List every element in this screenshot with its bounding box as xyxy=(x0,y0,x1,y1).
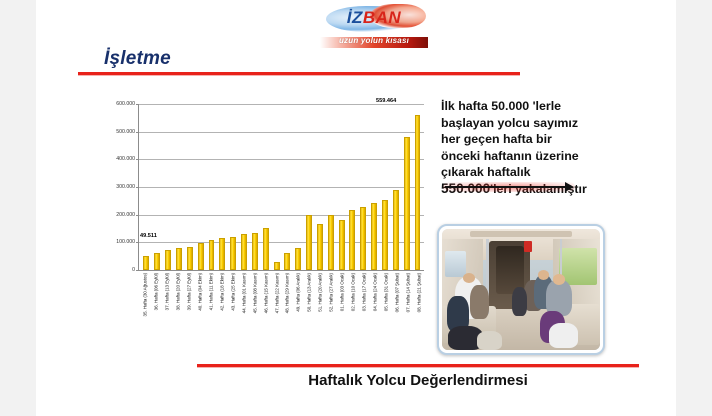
photo-ceiling-strip xyxy=(470,231,571,237)
chart-bar[interactable] xyxy=(349,210,355,270)
x-axis-tick-label: 46. Hafta (15 Kasım) xyxy=(263,273,268,313)
chart-bar[interactable] xyxy=(415,115,421,270)
x-axis-tick-label: 37. Hafta (13 Eylül) xyxy=(165,273,170,310)
photo-passenger xyxy=(477,331,502,350)
slide-canvas: İZBAN uzun yolun kısası İşletme 0100.000… xyxy=(0,0,712,416)
bar-slot xyxy=(228,104,239,270)
chart-bar[interactable] xyxy=(317,224,323,270)
y-axis-tick-mark xyxy=(136,242,139,243)
x-label-slot: 50. Hafta (13 Aralık) xyxy=(304,273,315,343)
x-axis-tick-label: 41. Hafta (11 Ekim) xyxy=(208,273,213,310)
x-label-slot: 40. Hafta (04 Ekim) xyxy=(195,273,206,343)
x-label-slot: 06. Hafta (07 Şubat) xyxy=(391,273,402,343)
x-axis-tick-label: 03. Hafta (17 Ocak) xyxy=(361,273,366,311)
bar-slot xyxy=(380,104,391,270)
chart-bar[interactable] xyxy=(404,137,410,270)
bar-slot xyxy=(315,104,326,270)
x-axis-tick-label: 38. Hafta (20 Eylül) xyxy=(176,273,181,310)
x-label-slot: 47. Hafta (22 Kasım) xyxy=(271,273,282,343)
bar-slot xyxy=(249,104,260,270)
y-axis-tick-mark xyxy=(136,159,139,160)
chart-bar[interactable] xyxy=(382,200,388,270)
chart-bar[interactable] xyxy=(241,234,247,270)
x-label-slot: 08. Hafta (21 Şubat) xyxy=(413,273,424,343)
chart-bar[interactable] xyxy=(295,248,301,270)
photo-window-left xyxy=(445,251,466,278)
logo-mark: İZBAN xyxy=(318,4,430,34)
x-axis-tick-label: 45. Hafta (08 Kasım) xyxy=(252,273,257,313)
train-interior-photo xyxy=(442,229,600,350)
chart-bar[interactable] xyxy=(263,228,269,270)
x-axis-tick-label: 52. Hafta (27 Aralık) xyxy=(329,273,334,312)
photo-passenger-head xyxy=(553,274,566,285)
chart-bar[interactable] xyxy=(306,215,312,270)
y-axis-tick-mark xyxy=(136,270,139,271)
bar-slot xyxy=(174,104,185,270)
x-label-slot: 41. Hafta (11 Ekim) xyxy=(206,273,217,343)
x-axis-tick-label: 02. Hafta (10 Ocak) xyxy=(350,273,355,311)
x-label-slot: 45. Hafta (08 Kasım) xyxy=(249,273,260,343)
bar-slot xyxy=(304,104,315,270)
x-label-slot: 46. Hafta (15 Kasım) xyxy=(260,273,271,343)
logo-wordmark: İZBAN xyxy=(318,8,430,28)
x-axis-tick-label: 07. Hafta (14 Şubat) xyxy=(405,273,410,312)
logo-tagline: uzun yolun kısası xyxy=(318,36,430,45)
x-label-slot: 37. Hafta (13 Eylül) xyxy=(162,273,173,343)
logo-tagline-wrap: uzun yolun kısası xyxy=(318,35,430,49)
x-label-slot: 35. Hafta (30 Ağustos) xyxy=(140,273,151,343)
bar-slot xyxy=(217,104,228,270)
izban-logo: İZBAN uzun yolun kısası xyxy=(318,4,430,50)
x-axis-tick-label: 36. Hafta (06 Eylül) xyxy=(154,273,159,310)
x-label-slot: 43. Hafta (25 Ekim) xyxy=(227,273,238,343)
chart-bar[interactable] xyxy=(176,248,182,270)
y-axis-tick-mark xyxy=(136,187,139,188)
chart-bar[interactable] xyxy=(198,243,204,270)
x-label-slot: 01. Hafta (03 Ocak) xyxy=(337,273,348,343)
chart-bar[interactable] xyxy=(154,253,160,270)
x-axis-tick-label: 39. Hafta (27 Eylül) xyxy=(187,273,192,310)
bar-slot xyxy=(347,104,358,270)
x-axis-tick-label: 49. Hafta (06 Aralık) xyxy=(296,273,301,312)
x-axis-tick-label: 44. Hafta (01 Kasım) xyxy=(241,273,246,313)
x-label-slot: 02. Hafta (10 Ocak) xyxy=(348,273,359,343)
bar-slot xyxy=(282,104,293,270)
bar-slot xyxy=(152,104,163,270)
x-axis-tick-label: 51. Hafta (20 Aralık) xyxy=(318,273,323,312)
chart-bar[interactable] xyxy=(274,262,280,270)
bar-slot xyxy=(260,104,271,270)
callout-line-4: önceki haftanın üzerine xyxy=(441,148,637,165)
x-label-slot: 03. Hafta (17 Ocak) xyxy=(358,273,369,343)
chart-bar[interactable] xyxy=(371,203,377,270)
bar-slot xyxy=(336,104,347,270)
chart-bar[interactable] xyxy=(209,240,215,270)
photo-red-sign xyxy=(524,241,532,252)
x-axis-tick-label: 08. Hafta (21 Şubat) xyxy=(416,273,421,312)
y-axis-tick-label: 500.000 xyxy=(116,129,135,135)
photo-passenger xyxy=(549,323,577,347)
arrow-line xyxy=(445,186,567,188)
x-label-slot: 52. Hafta (27 Aralık) xyxy=(326,273,337,343)
x-label-slot: 07. Hafta (14 Şubat) xyxy=(402,273,413,343)
x-axis-tick-label: 42. Hafta (18 Ekim) xyxy=(219,273,224,311)
x-axis-tick-label: 04. Hafta (24 Ocak) xyxy=(372,273,377,311)
page-title: İşletme xyxy=(104,48,171,70)
x-axis-tick-label: 40. Hafta (04 Ekim) xyxy=(198,273,203,311)
bar-slot xyxy=(358,104,369,270)
chart-bar[interactable] xyxy=(284,253,290,270)
y-axis-tick-mark xyxy=(136,104,139,105)
right-margin-band xyxy=(676,0,712,416)
x-axis-tick-label: 47. Hafta (22 Kasım) xyxy=(274,273,279,313)
chart-bar[interactable] xyxy=(328,215,334,270)
bar-slot xyxy=(390,104,401,270)
bar-slot xyxy=(401,104,412,270)
bar-slot xyxy=(141,104,152,270)
bar-slot xyxy=(412,104,423,270)
chart-bar[interactable] xyxy=(143,256,149,270)
bar-slot xyxy=(239,104,250,270)
chart-bar[interactable] xyxy=(339,220,345,270)
y-axis-tick-label: 100.000 xyxy=(116,239,135,245)
y-axis-tick-label: 600.000 xyxy=(116,101,135,107)
x-axis-tick-label: 48. Hafta (29 Kasım) xyxy=(285,273,290,313)
chart-bar[interactable] xyxy=(252,233,258,270)
chart-bars xyxy=(141,104,423,270)
chart-bar[interactable] xyxy=(230,237,236,270)
y-axis-tick-label: 300.000 xyxy=(116,184,135,190)
left-margin-band xyxy=(0,0,36,416)
bar-slot xyxy=(369,104,380,270)
bar-slot xyxy=(325,104,336,270)
logo-wordmark-second: BAN xyxy=(363,8,401,27)
bar-slot xyxy=(195,104,206,270)
x-axis-tick-label: 06. Hafta (07 Şubat) xyxy=(394,273,399,312)
photo-frame xyxy=(437,224,605,355)
x-label-slot: 05. Hafta (31 Ocak) xyxy=(380,273,391,343)
y-axis-tick-label: 200.000 xyxy=(116,212,135,218)
bar-slot xyxy=(206,104,217,270)
chart-caption: Haftalık Yolcu Değerlendirmesi xyxy=(197,372,639,389)
x-axis-tick-label: 43. Hafta (25 Ekim) xyxy=(230,273,235,311)
photo-passenger xyxy=(470,285,489,319)
x-axis-tick-label: 05. Hafta (31 Ocak) xyxy=(383,273,388,311)
y-axis-tick-label: 400.000 xyxy=(116,156,135,162)
chart-bar[interactable] xyxy=(393,190,399,270)
chart-x-axis-labels: 35. Hafta (30 Ağustos)36. Hafta (06 Eylü… xyxy=(140,273,424,343)
bar-value-last: 559.464 xyxy=(376,98,396,104)
bar-slot xyxy=(163,104,174,270)
callout-line-2: başlayan yolcu sayımız xyxy=(441,115,637,132)
photo-passenger xyxy=(512,287,528,316)
y-axis-tick-mark xyxy=(136,215,139,216)
x-label-slot: 48. Hafta (29 Kasım) xyxy=(282,273,293,343)
x-label-slot: 36. Hafta (06 Eylül) xyxy=(151,273,162,343)
x-label-slot: 42. Hafta (18 Ekim) xyxy=(216,273,227,343)
bar-value-first: 49.511 xyxy=(140,233,157,239)
logo-wordmark-first: İZ xyxy=(347,8,363,27)
x-label-slot: 38. Hafta (20 Eylül) xyxy=(173,273,184,343)
y-axis-tick-label: 0 xyxy=(132,267,135,273)
chart-bar[interactable] xyxy=(187,247,193,270)
x-axis-tick-label: 50. Hafta (13 Aralık) xyxy=(307,273,312,312)
chart-bar[interactable] xyxy=(219,238,225,270)
arrow-head xyxy=(565,182,574,192)
x-axis-tick-label: 01. Hafta (03 Ocak) xyxy=(340,273,345,311)
callout-line-3: her geçen hafta bir xyxy=(441,131,637,148)
chart-plot-area: 0100.000200.000300.000400.000500.000600.… xyxy=(138,104,424,271)
right-arrow-icon xyxy=(443,180,583,194)
title-divider xyxy=(78,72,520,75)
y-axis-tick-mark xyxy=(136,132,139,133)
callout-line-5: çıkarak haftalık xyxy=(441,164,637,181)
callout-line-1: İlk hafta 50.000 'lerle xyxy=(441,98,637,115)
chart-bar[interactable] xyxy=(360,207,366,270)
bar-slot xyxy=(293,104,304,270)
caption-divider xyxy=(197,364,639,367)
x-label-slot: 44. Hafta (01 Kasım) xyxy=(238,273,249,343)
x-axis-tick-label: 35. Hafta (30 Ağustos) xyxy=(143,273,148,317)
chart-bar[interactable] xyxy=(165,250,171,270)
bar-slot xyxy=(184,104,195,270)
x-label-slot: 04. Hafta (24 Ocak) xyxy=(369,273,380,343)
bar-slot xyxy=(271,104,282,270)
weekly-passenger-bar-chart: 0100.000200.000300.000400.000500.000600.… xyxy=(96,96,426,271)
x-label-slot: 51. Hafta (20 Aralık) xyxy=(315,273,326,343)
x-label-slot: 39. Hafta (27 Eylül) xyxy=(184,273,195,343)
x-label-slot: 49. Hafta (06 Aralık) xyxy=(293,273,304,343)
